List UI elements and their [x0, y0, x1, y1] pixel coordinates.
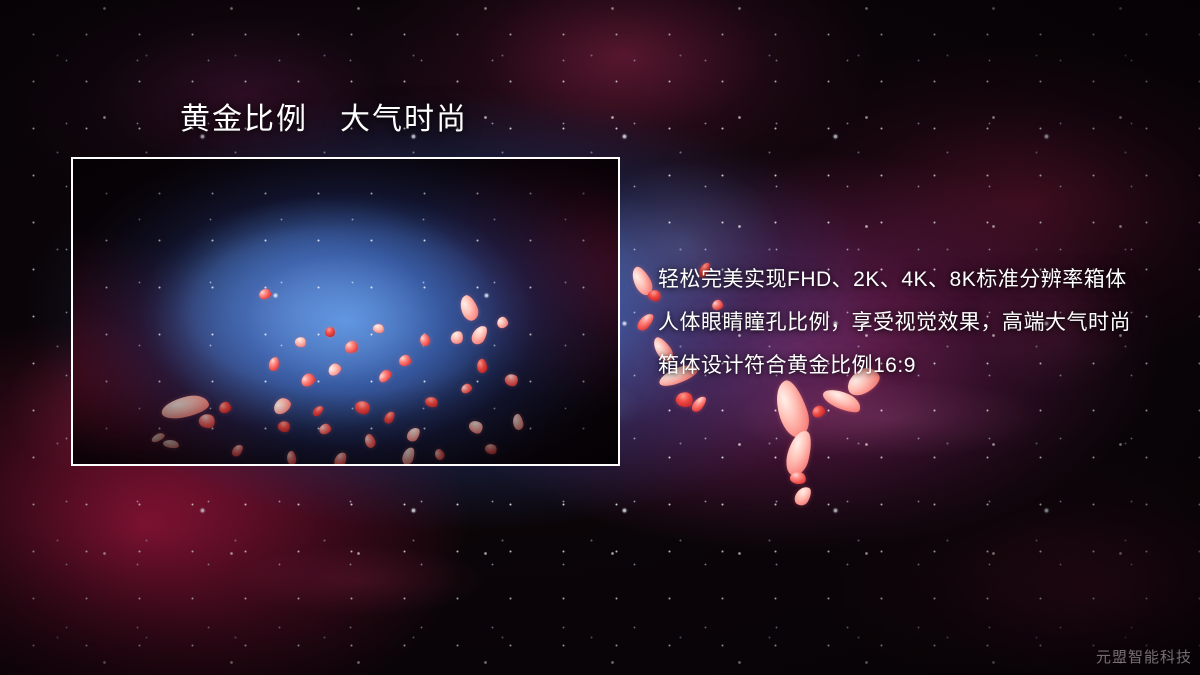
body-text-block: 轻松完美实现FHD、2K、4K、8K标准分辨率箱体 人体眼睛瞳孔比例，享受视觉效…	[658, 258, 1158, 387]
petal-shape	[789, 471, 807, 486]
watermark: 元盟智能科技	[1096, 646, 1192, 667]
petal-shape	[635, 311, 656, 333]
petal-shape	[792, 484, 814, 508]
petal-shape	[820, 385, 863, 417]
photo-frame	[71, 157, 620, 466]
body-line-3: 箱体设计符合黄金比例16:9	[658, 344, 1158, 387]
petal-shape	[674, 390, 695, 410]
slide-title: 黄金比例 大气时尚	[180, 101, 468, 139]
petal-shape	[628, 264, 656, 298]
slide-canvas: 黄金比例 大气时尚 轻松完美实现FHD、2K、4K、8K标准分辨率箱体 人体眼睛…	[0, 0, 1200, 675]
photo-frame-image	[73, 159, 618, 464]
body-line-2: 人体眼睛瞳孔比例，享受视觉效果，高端大气时尚	[658, 301, 1158, 344]
frame-vignette	[73, 159, 618, 464]
petal-shape	[783, 428, 815, 478]
petal-shape	[690, 394, 709, 414]
petal-shape	[810, 404, 826, 419]
body-line-1: 轻松完美实现FHD、2K、4K、8K标准分辨率箱体	[658, 258, 1158, 301]
